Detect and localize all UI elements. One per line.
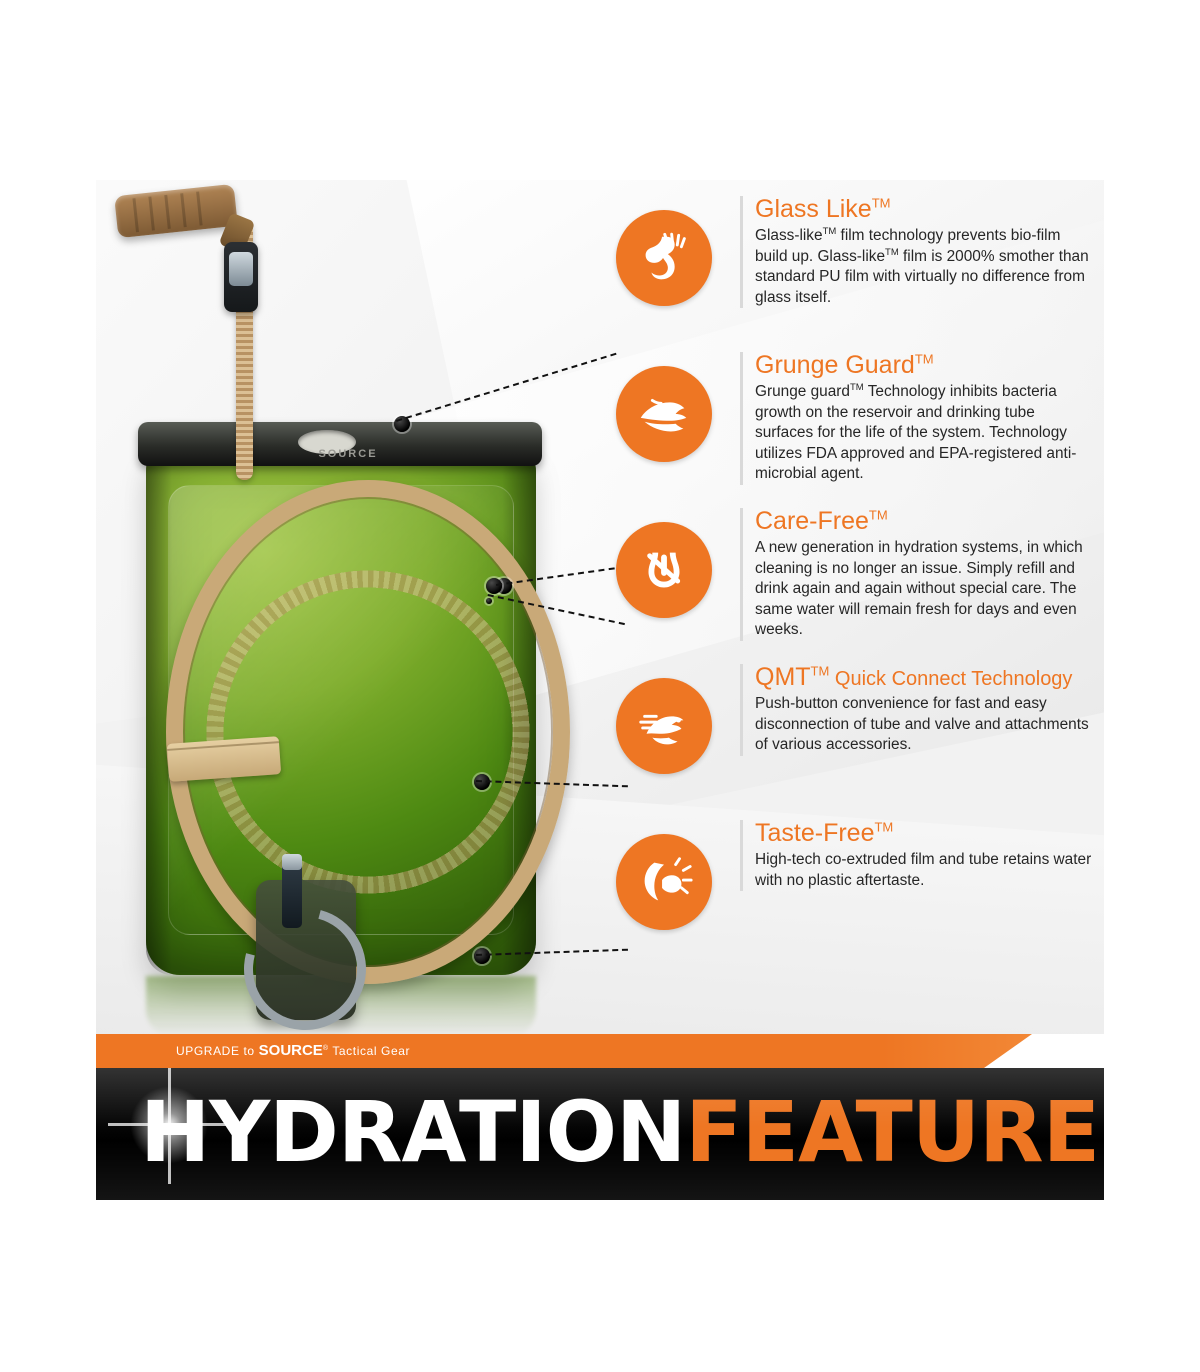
feature-list: Glass LikeTM Glass-likeTM film technolog… [616,190,1096,976]
valve-rib [164,195,171,229]
feature-text: Grunge GuardTM Grunge guardTM Technology… [740,352,1096,485]
valve-rib [132,198,139,232]
trademark-mark: TM [874,820,893,835]
feature-body: High-tech co-extruded film and tube reta… [755,850,1096,891]
velcro-strap [167,736,281,782]
trademark-mark: TM [915,352,934,367]
feature-text: QMTTM Quick Connect Technology Push-butt… [740,664,1096,756]
hydration-reservoir-illustration: SOURCE [106,180,626,1060]
clip-lever-top [282,854,302,870]
feature-subtitle: Quick Connect Technology [829,668,1072,690]
drinking-tube-loop [166,480,570,984]
bite-valve [114,184,238,238]
infographic-page: SOURCE [0,0,1200,1372]
feature-text: Taste-FreeTM High-tech co-extruded film … [740,820,1096,891]
feature-body-pre: Push-button convenience for fast and eas… [755,695,1089,753]
feature-title-text: Glass Like [755,195,872,223]
feature-care-free: Care-FreeTM A new generation in hydratio… [616,508,1096,658]
hero-title: HYDRATIONFEATURES [140,1084,1084,1180]
feature-body-pre: Glass-like [755,227,823,244]
trademark-mark: TM [869,508,888,523]
feature-body-pre: A new generation in hydration systems, i… [755,539,1083,638]
feature-body: Push-button convenience for fast and eas… [755,694,1096,755]
tube-weave-texture [166,480,570,984]
trademark-mark: TM [811,664,830,679]
feature-body: A new generation in hydration systems, i… [755,538,1096,640]
upgrade-strip: UPGRADE to SOURCE® Tactical Gear [96,1034,1104,1068]
feature-title: Taste-FreeTM [755,820,1096,846]
trademark-mark: TM [885,247,899,258]
brand-label: SOURCE [288,448,408,460]
valve-rib [148,196,155,230]
bacteria-shield-icon [616,366,712,462]
trademark-mark: TM [823,226,837,237]
feature-body: Grunge guardTM Technology inhibits bacte… [755,382,1096,485]
feature-text: Glass LikeTM Glass-likeTM film technolog… [740,196,1096,308]
feature-grunge-guard: Grunge GuardTM Grunge guardTM Technology… [616,352,1096,502]
feature-qmt: QMTTM Quick Connect Technology Push-butt… [616,664,1096,814]
trademark-mark: TM [850,382,864,393]
feature-title: Grunge GuardTM [755,352,1096,378]
upgrade-to: to [243,1044,254,1058]
feature-glass-like: Glass LikeTM Glass-likeTM film technolog… [616,196,1096,346]
upgrade-text: UPGRADE to SOURCE® Tactical Gear [176,1042,410,1059]
qmt-push-button [229,252,253,286]
strip-corner-cut [984,1034,1104,1068]
taste-free-icon [616,834,712,930]
clip-lever [282,862,302,928]
feature-title: Glass LikeTM [755,196,1096,222]
upgrade-tail: Tactical Gear [332,1044,410,1058]
slide-closure-bar: SOURCE [138,422,542,466]
quick-connect-icon [616,678,712,774]
hero-word-features: FEATURES [685,1083,1104,1181]
feature-taste-free: Taste-FreeTM High-tech co-extruded film … [616,820,1096,970]
feature-text: Care-FreeTM A new generation in hydratio… [740,508,1096,641]
valve-rib [180,193,187,227]
feature-title-text: Grunge Guard [755,351,915,379]
feature-title-text: QMT [755,663,811,691]
feature-body-pre: Grunge guard [755,383,850,400]
gecko-icon [616,210,712,306]
qmt-connector [224,242,258,312]
feature-title: QMTTM Quick Connect Technology [755,664,1096,690]
feature-title-text: Taste-Free [755,819,874,847]
callout-dot-taste-free [474,948,490,964]
features-panel: SOURCE [96,180,1104,1060]
tube-clip-assembly [256,880,356,1020]
strap-edge [167,741,279,751]
feature-title: Care-FreeTM [755,508,1096,534]
no-brush-icon [616,522,712,618]
upgrade-lead: UPGRADE [176,1044,240,1058]
callout-dot-small [486,598,492,604]
upgrade-brand: SOURCE [259,1042,323,1059]
registered-mark: ® [323,1045,329,1052]
valve-rib [196,191,203,225]
trademark-mark: TM [872,196,891,211]
hero-word-hydration: HYDRATION [140,1083,685,1181]
hero-title-bar: HYDRATIONFEATURES [96,1068,1104,1200]
callout-dot-care-free [486,578,502,594]
feature-body: Glass-likeTM film technology prevents bi… [755,226,1096,308]
feature-title-text: Care-Free [755,507,869,535]
feature-body-pre: High-tech co-extruded film and tube reta… [755,851,1091,888]
